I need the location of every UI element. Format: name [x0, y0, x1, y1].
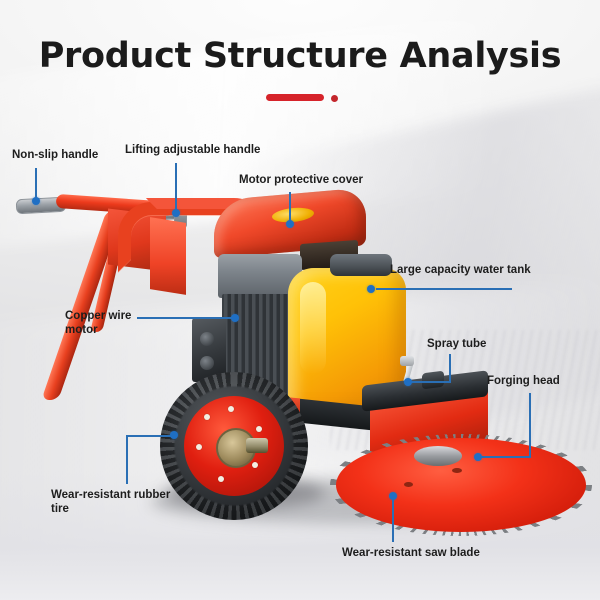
leader-dot-lifting-adjustable-handle [172, 209, 180, 217]
saw-blade-segment-ring [330, 434, 592, 536]
leader-line-large-capacity-water-tank [376, 288, 512, 290]
wheel-lug [196, 444, 202, 450]
wheel-lug [228, 406, 234, 412]
leader-line-copper-wire-motor [137, 317, 235, 319]
leader-dot-non-slip-handle [32, 197, 40, 205]
leader-line-spray-tube-horizontal [410, 381, 451, 383]
leader-line-tire-vertical [126, 435, 128, 484]
leader-dot-spray-tube [404, 378, 412, 386]
divider-dot [331, 95, 338, 102]
motor-terminal-1 [200, 332, 214, 346]
saw-blade-arbor-hole [404, 482, 413, 487]
callout-lifting-adjustable-handle: Lifting adjustable handle [125, 143, 260, 157]
title-divider [266, 94, 338, 102]
divider-bar [266, 94, 324, 101]
wheel-lug [252, 462, 258, 468]
wheel-lug [218, 476, 224, 482]
callout-non-slip-handle: Non-slip handle [12, 148, 98, 162]
leader-dot-copper-wire-motor [231, 314, 239, 322]
wheel-lug [256, 426, 262, 432]
leader-dot-motor-protective-cover [286, 220, 294, 228]
leader-dot-wear-resistant-saw-blade [389, 492, 397, 500]
leader-dot-wear-resistant-rubber-tire [170, 431, 178, 439]
leader-line-forging-head-horizontal [481, 456, 531, 458]
callout-wear-resistant-rubber-tire: Wear-resistant rubber tire [51, 488, 170, 516]
page-title: Product Structure Analysis [0, 36, 600, 76]
water-tank-cap [330, 254, 392, 276]
leader-line-tire-horizontal [126, 435, 174, 437]
callout-spray-tube: Spray tube [427, 337, 486, 351]
forging-head-bolt [422, 371, 444, 390]
saw-blade-arbor-hole [452, 468, 462, 473]
leader-dot-large-capacity-water-tank [367, 285, 375, 293]
water-tank-highlight [300, 282, 326, 374]
callout-forging-head: Forging head [487, 374, 560, 388]
leader-line-wear-resistant-saw-blade [392, 500, 394, 542]
leader-line-non-slip-handle [35, 168, 37, 200]
leader-line-motor-protective-cover [289, 192, 291, 222]
leader-dot-forging-head [474, 453, 482, 461]
callout-motor-protective-cover: Motor protective cover [239, 173, 363, 187]
wheel-axle-nut [246, 438, 268, 453]
product-structure-analysis-page: Product Structure Analysis [0, 0, 600, 600]
wheel-lug [204, 414, 210, 420]
spray-tube-fitting [400, 356, 414, 366]
leader-line-lifting-adjustable-handle [175, 163, 177, 211]
leader-line-spray-tube-vertical [449, 354, 451, 382]
leader-line-forging-head-vertical [529, 393, 531, 457]
saw-blade-flange [414, 446, 462, 466]
motor-terminal-2 [200, 356, 214, 370]
callout-wear-resistant-saw-blade: Wear-resistant saw blade [342, 546, 480, 560]
callout-large-capacity-water-tank: Large capacity water tank [390, 263, 531, 277]
callout-copper-wire-motor: Copper wire motor [65, 309, 131, 337]
